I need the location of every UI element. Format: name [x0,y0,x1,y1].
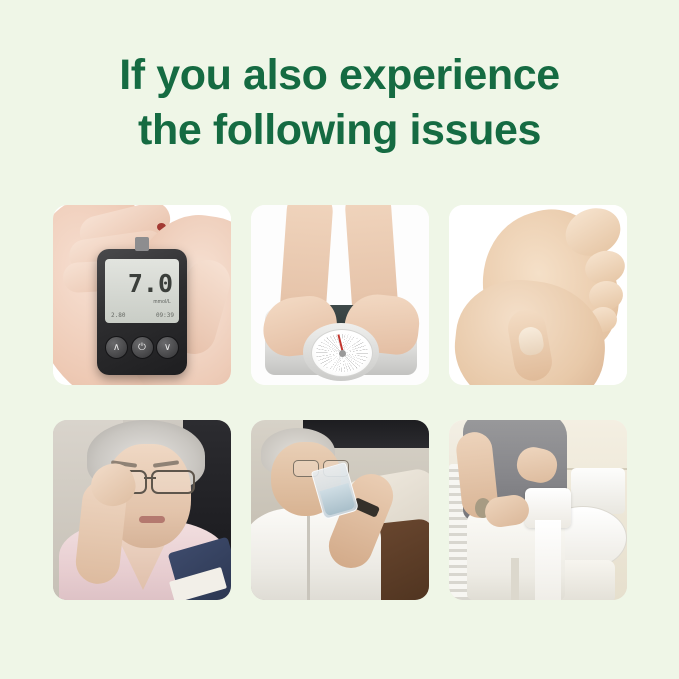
poster-canvas: If you also experience the following iss… [0,0,679,679]
water-level [319,483,355,516]
dial-hub [339,350,346,357]
page-title: If you also experience the following iss… [0,48,679,158]
test-strip-icon [135,237,149,251]
glucose-reading-unit: mmol/L [153,299,171,305]
symptom-tile-foot-numbness-pain [449,205,627,385]
blurred-vision-photo [53,420,231,600]
symptom-image-grid: 7.0 mmol/L 2.80 09:39 ∧ ⏻ ∨ [53,205,627,600]
bathroom-scale-photo [251,205,429,385]
power-icon[interactable]: ⏻ [131,336,154,359]
down-chevron-icon[interactable]: ∨ [156,336,179,359]
glasses-bridge [144,477,156,479]
toilet-paper-sheet [535,520,561,600]
scale-dial-face [311,329,373,377]
bathroom-photo [449,420,627,600]
page-title-line-1: If you also experience [0,48,679,103]
meter-time: 09:39 [156,312,174,319]
toilet-base [557,560,615,600]
glucose-meter-device: 7.0 mmol/L 2.80 09:39 ∧ ⏻ ∨ [97,249,187,375]
page-title-line-2: the following issues [0,103,679,158]
symptom-tile-blood-glucose-test: 7.0 mmol/L 2.80 09:39 ∧ ⏻ ∨ [53,205,231,385]
symptom-tile-excessive-thirst [251,420,429,600]
up-chevron-icon[interactable]: ∧ [105,336,128,359]
leg-gap-shadow [511,558,519,600]
foot-sole-photo [449,205,627,385]
right-lens [151,470,195,494]
glucose-meter-photo: 7.0 mmol/L 2.80 09:39 ∧ ⏻ ∨ [53,205,231,385]
mouth-shape [139,516,165,523]
drinking-water-photo [251,420,429,600]
glucose-reading-value: 7.0 [128,271,173,296]
symptom-tile-frequent-urination [449,420,627,600]
meter-lcd-footer: 2.80 09:39 [111,312,174,319]
shirt-placket [307,516,310,600]
meter-date: 2.80 [111,312,125,319]
symptom-tile-blurred-vision [53,420,231,600]
meter-button-row: ∧ ⏻ ∨ [105,336,179,359]
symptom-tile-weight-change [251,205,429,385]
meter-lcd-screen: 7.0 mmol/L 2.80 09:39 [105,259,179,323]
